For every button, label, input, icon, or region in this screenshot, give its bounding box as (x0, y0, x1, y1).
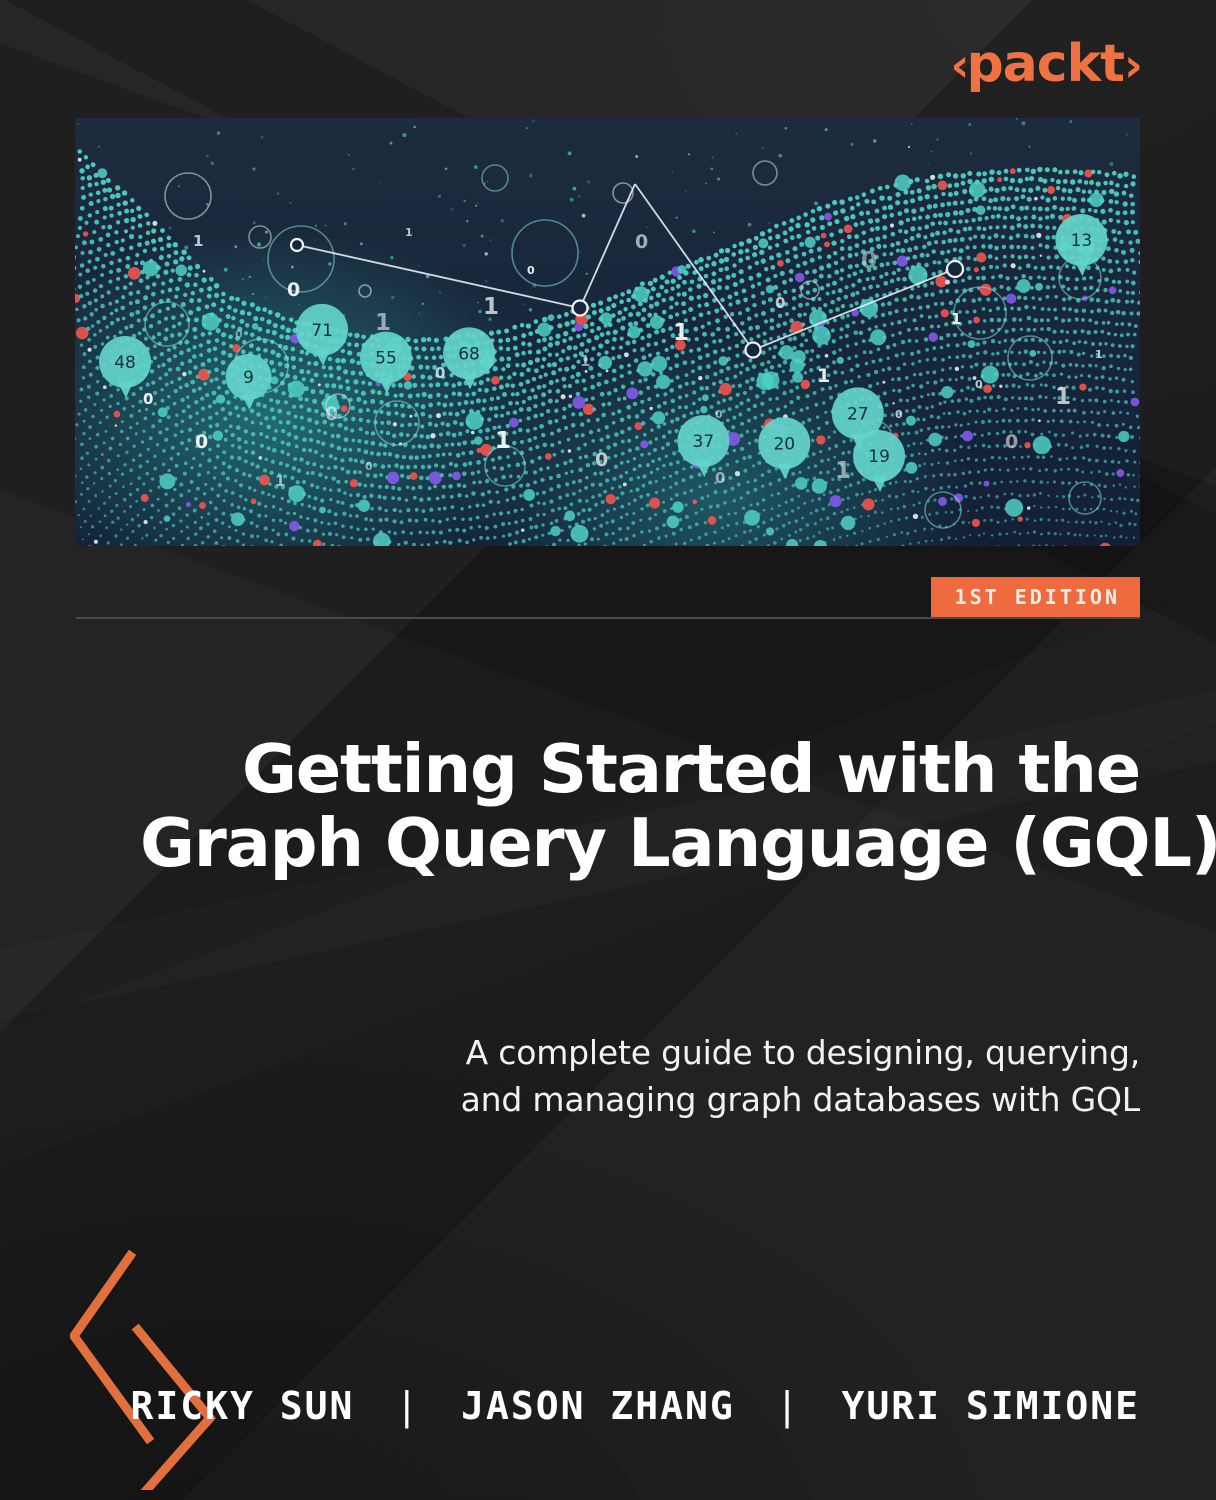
logo-wordmark: packt (966, 34, 1124, 94)
author-2: JASON ZHANG (461, 1384, 735, 1428)
book-cover: ‹packt› (0, 0, 1216, 1500)
svg-text:55: 55 (375, 349, 397, 369)
binary-digit: 0 (235, 328, 243, 341)
binary-digit: 1 (1095, 348, 1103, 361)
binary-digit: 0 (861, 248, 877, 274)
binary-digit: 0 (1005, 431, 1018, 453)
packt-chevron-mark (70, 1250, 240, 1490)
chevron-mark-icon (70, 1250, 240, 1490)
author-separator-2: | (760, 1384, 817, 1428)
packt-logo: ‹packt› (950, 38, 1140, 90)
svg-text:48: 48 (114, 353, 136, 373)
logo-bracket-left-icon: ‹ (950, 38, 966, 92)
subtitle-line-1: A complete guide to designing, querying, (180, 1030, 1140, 1077)
binary-digit: 0 (715, 469, 725, 487)
svg-text:27: 27 (847, 404, 869, 424)
binary-digit: 0 (635, 231, 648, 253)
author-3: YURI SIMIONE (841, 1384, 1140, 1428)
binary-digit: 0 (325, 403, 338, 425)
binary-digit: 1 (495, 428, 511, 454)
binary-digit: 0 (527, 264, 535, 277)
svg-text:19: 19 (868, 447, 890, 467)
binary-digit: 1 (483, 294, 499, 320)
title-line-2: Graph Query Language (GQL) (140, 807, 1140, 881)
author-separator-1: | (379, 1384, 436, 1428)
book-title: Getting Started with the Graph Query Lan… (140, 733, 1140, 880)
binary-digit: 0 (895, 408, 903, 421)
binary-digit: 1 (951, 310, 961, 328)
binary-digit: 0 (715, 408, 723, 421)
author-line: RICKY SUN | JASON ZHANG | YURI SIMIONE (131, 1384, 1140, 1428)
network-visualization-svg: 1371554868927201937 01011001010100100101… (75, 118, 1140, 546)
svg-text:20: 20 (773, 434, 795, 454)
binary-digit: 1 (405, 226, 413, 239)
binary-digit: 0 (143, 390, 153, 408)
binary-digit: 1 (835, 458, 851, 484)
binary-digit: 1 (580, 352, 590, 370)
book-subtitle: A complete guide to designing, querying,… (180, 1030, 1140, 1124)
svg-text:68: 68 (458, 344, 480, 364)
binary-digit: 1 (275, 472, 285, 490)
binary-digit: 0 (365, 460, 373, 473)
subtitle-line-2: and managing graph databases with GQL (180, 1077, 1140, 1124)
svg-text:9: 9 (243, 368, 254, 388)
svg-text:71: 71 (311, 321, 333, 341)
svg-text:13: 13 (1071, 231, 1093, 251)
binary-digit: 1 (817, 365, 830, 387)
binary-digit: 1 (193, 232, 203, 250)
binary-digit: 0 (775, 294, 785, 312)
svg-text:37: 37 (693, 432, 715, 452)
binary-digit: 0 (195, 431, 208, 453)
cover-artwork: 1371554868927201937 01011001010100100101… (75, 118, 1140, 546)
binary-digit: 1 (1055, 384, 1071, 410)
binary-digit: 0 (287, 279, 300, 301)
binary-digit: 0 (595, 449, 608, 471)
title-line-1: Getting Started with the (140, 733, 1140, 807)
author-1: RICKY SUN (131, 1384, 355, 1428)
binary-digit: 1 (375, 310, 391, 336)
edition-badge: 1ST EDITION (931, 577, 1140, 617)
binary-digit: 1 (673, 320, 689, 346)
divider-rule (76, 617, 1140, 619)
logo-bracket-right-icon: › (1124, 38, 1140, 92)
binary-digit: 0 (975, 378, 983, 391)
binary-digit: 0 (435, 364, 445, 382)
